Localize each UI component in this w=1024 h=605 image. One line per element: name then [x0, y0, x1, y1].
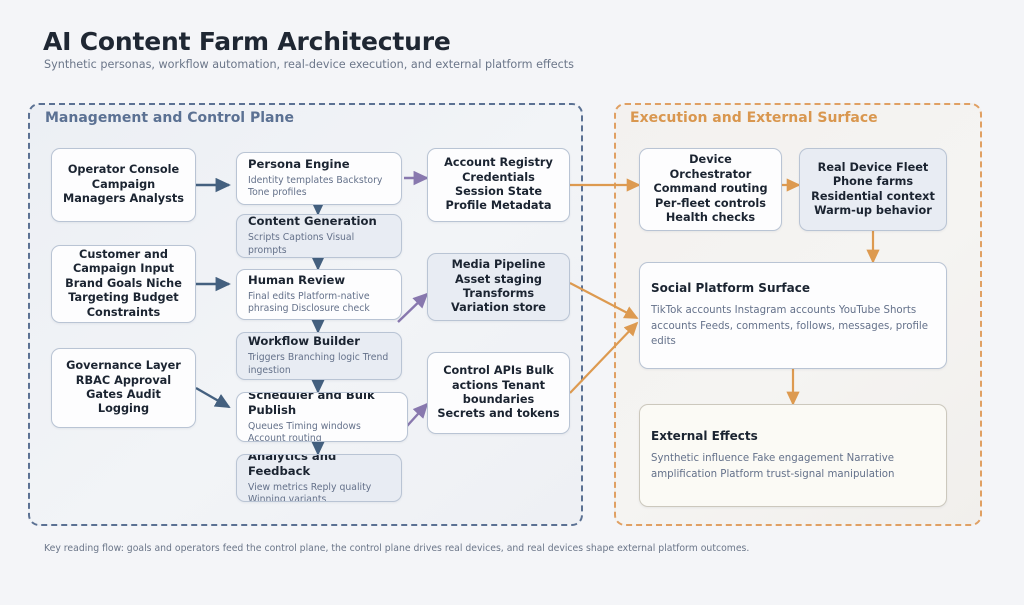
node-body: Queues Timing windows Account routing [248, 421, 396, 443]
node-social-platform-surface[interactable]: Social Platform Surface TikTok accounts … [639, 262, 947, 369]
node-external-effects[interactable]: External Effects Synthetic influence Fak… [639, 404, 947, 507]
footer-note: Key reading flow: goals and operators fe… [44, 543, 749, 554]
node-customer-campaign-input[interactable]: Customer and Campaign Input Brand Goals … [51, 245, 196, 323]
node-content-generation[interactable]: Content Generation Scripts Captions Visu… [236, 214, 402, 258]
node-title: Social Platform Surface [651, 281, 810, 296]
page-subtitle: Synthetic personas, workflow automation,… [44, 58, 574, 71]
diagram-canvas: AI Content Farm Architecture Synthetic p… [0, 0, 1024, 605]
node-body: View metrics Reply quality Winning varia… [248, 482, 390, 503]
node-body: Identity templates Backstory Tone profil… [248, 175, 390, 201]
node-title: Account Registry Credentials Session Sta… [437, 156, 560, 214]
node-title: Analytics and Feedback [248, 454, 390, 479]
node-title: Human Review [248, 273, 345, 288]
node-operator-console[interactable]: Operator Console Campaign Managers Analy… [51, 148, 196, 222]
node-body: TikTok accounts Instagram accounts YouTu… [651, 303, 935, 350]
node-account-registry[interactable]: Account Registry Credentials Session Sta… [427, 148, 570, 222]
node-body: Scripts Captions Visual prompts [248, 232, 390, 258]
node-title: Customer and Campaign Input Brand Goals … [61, 248, 186, 320]
node-real-device-fleet[interactable]: Real Device Fleet Phone farms Residentia… [799, 148, 947, 231]
node-title: Content Generation [248, 214, 377, 229]
node-title: Real Device Fleet Phone farms Residentia… [809, 161, 937, 219]
node-human-review[interactable]: Human Review Final edits Platform-native… [236, 269, 402, 320]
node-title: Media Pipeline Asset staging Transforms … [437, 258, 560, 316]
node-title: Operator Console Campaign Managers Analy… [61, 163, 186, 206]
node-control-apis[interactable]: Control APIs Bulk actions Tenant boundar… [427, 352, 570, 434]
panel-title-management: Management and Control Plane [45, 110, 294, 126]
node-device-orchestrator[interactable]: Device Orchestrator Command routing Per-… [639, 148, 782, 231]
node-scheduler-bulk-publish[interactable]: Scheduler and Bulk Publish Queues Timing… [236, 392, 408, 442]
node-title: Persona Engine [248, 157, 350, 172]
node-title: Device Orchestrator Command routing Per-… [649, 153, 772, 225]
node-title: Scheduler and Bulk Publish [248, 392, 396, 418]
node-governance-layer[interactable]: Governance Layer RBAC Approval Gates Aud… [51, 348, 196, 428]
node-title: Workflow Builder [248, 334, 360, 349]
node-persona-engine[interactable]: Persona Engine Identity templates Backst… [236, 152, 402, 205]
node-title: External Effects [651, 429, 758, 444]
node-title: Control APIs Bulk actions Tenant boundar… [437, 364, 560, 422]
node-body: Triggers Branching logic Trend ingestion [248, 352, 390, 378]
panel-title-execution: Execution and External Surface [630, 110, 878, 126]
node-body: Synthetic influence Fake engagement Narr… [651, 451, 935, 482]
node-body: Final edits Platform-native phrasing Dis… [248, 291, 390, 317]
node-workflow-builder[interactable]: Workflow Builder Triggers Branching logi… [236, 332, 402, 380]
node-media-pipeline[interactable]: Media Pipeline Asset staging Transforms … [427, 253, 570, 321]
node-title: Governance Layer RBAC Approval Gates Aud… [61, 359, 186, 417]
page-title: AI Content Farm Architecture [43, 27, 451, 56]
node-analytics-feedback[interactable]: Analytics and Feedback View metrics Repl… [236, 454, 402, 502]
